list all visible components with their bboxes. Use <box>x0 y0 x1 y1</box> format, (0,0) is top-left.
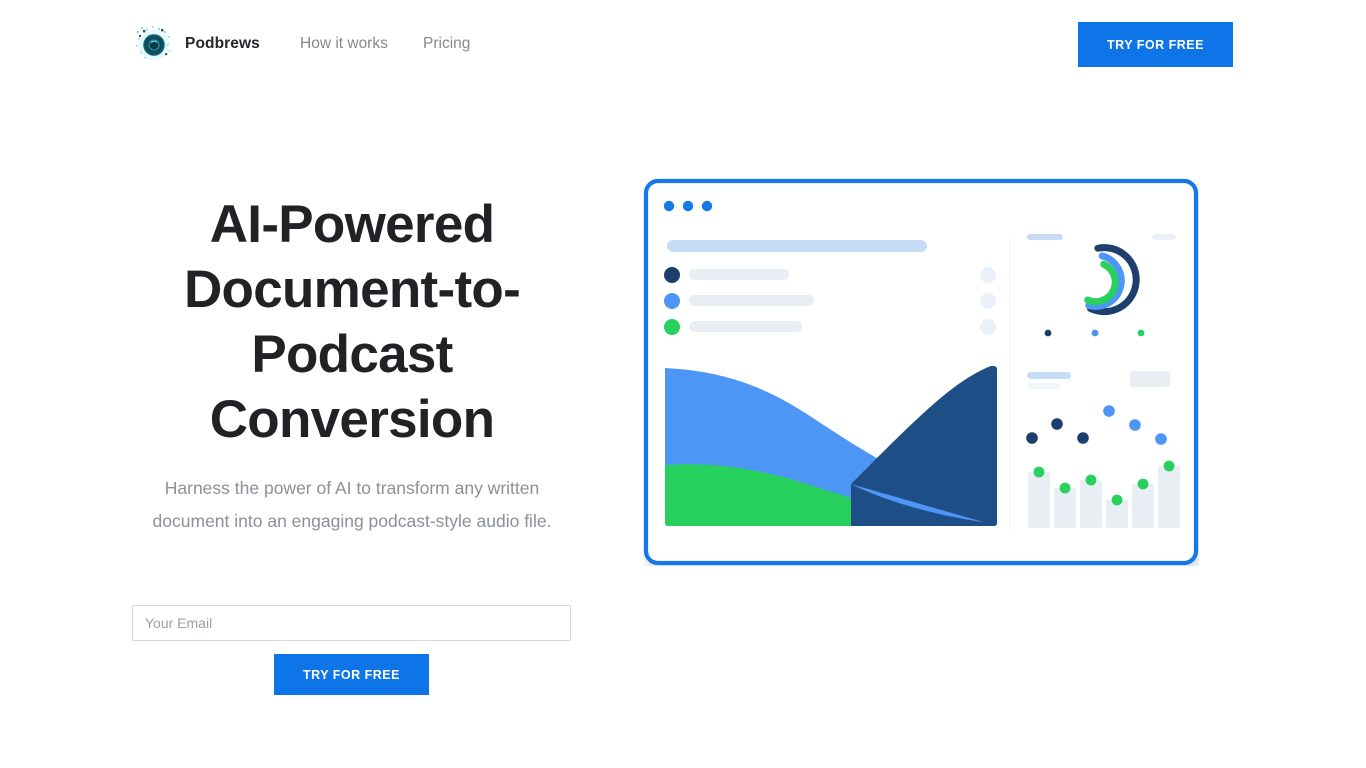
document-title-bar <box>667 240 927 252</box>
window-control-dots <box>664 201 712 211</box>
hero-subtitle: Harness the power of AI to transform any… <box>132 472 572 538</box>
podbrews-orb-logo-icon <box>132 22 176 66</box>
header-try-for-free-button[interactable]: TRY FOR FREE <box>1078 22 1233 67</box>
page-title: AI-Powered Document-to-Podcast Conversio… <box>132 192 572 452</box>
hero-copy-block: AI-Powered Document-to-Podcast Conversio… <box>132 192 572 538</box>
panel-divider <box>1009 238 1010 530</box>
brand-name: Podbrews <box>185 35 260 53</box>
nav-link-how-it-works[interactable]: How it works <box>300 35 388 53</box>
nav-link-pricing[interactable]: Pricing <box>423 35 470 53</box>
document-side-circles <box>980 267 996 335</box>
email-field[interactable] <box>132 605 571 641</box>
hero-try-for-free-button[interactable]: TRY FOR FREE <box>274 654 429 695</box>
brand-logo-group[interactable]: Podbrews <box>132 22 260 66</box>
dashboard-mockup-illustration <box>643 178 1199 566</box>
site-header: Podbrews How it works Pricing TRY FOR FR… <box>0 0 1366 90</box>
